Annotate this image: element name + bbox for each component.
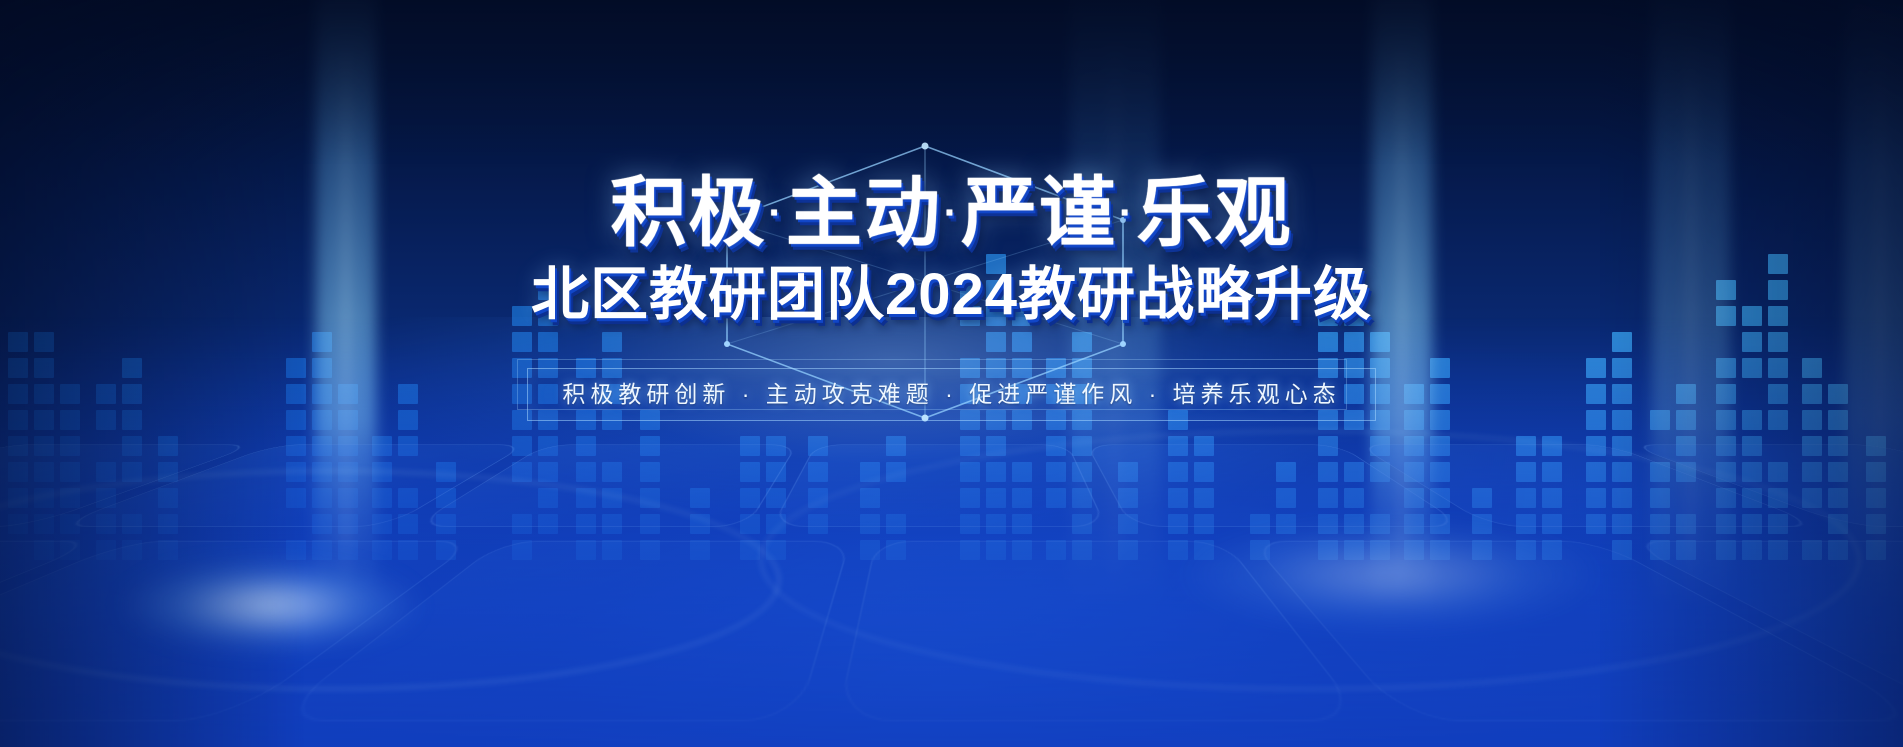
headline-word: 主动	[786, 171, 942, 256]
headline-word: 严谨	[961, 171, 1117, 256]
headline-word: 乐观	[1136, 171, 1292, 256]
banner-content: 积极·主动·严谨·乐观 北区教研团队2024教研战略升级 积极教研创新 · 主动…	[0, 0, 1903, 747]
headline-separator-dot: ·	[1119, 191, 1134, 235]
subheadline: 北区教研团队2024教研战略升级	[531, 266, 1372, 324]
tagline: 积极教研创新 · 主动攻克难题 · 促进严谨作风 · 培养乐观心态	[562, 380, 1340, 409]
tagline-frame: 积极教研创新 · 主动攻克难题 · 促进严谨作风 · 培养乐观心态	[527, 368, 1375, 421]
headline-separator-dot: ·	[769, 191, 784, 235]
headline: 积极·主动·严谨·乐观	[611, 176, 1293, 252]
banner: 积极·主动·严谨·乐观 北区教研团队2024教研战略升级 积极教研创新 · 主动…	[0, 0, 1903, 747]
headline-word: 积极	[611, 171, 767, 256]
headline-separator-dot: ·	[944, 191, 959, 235]
